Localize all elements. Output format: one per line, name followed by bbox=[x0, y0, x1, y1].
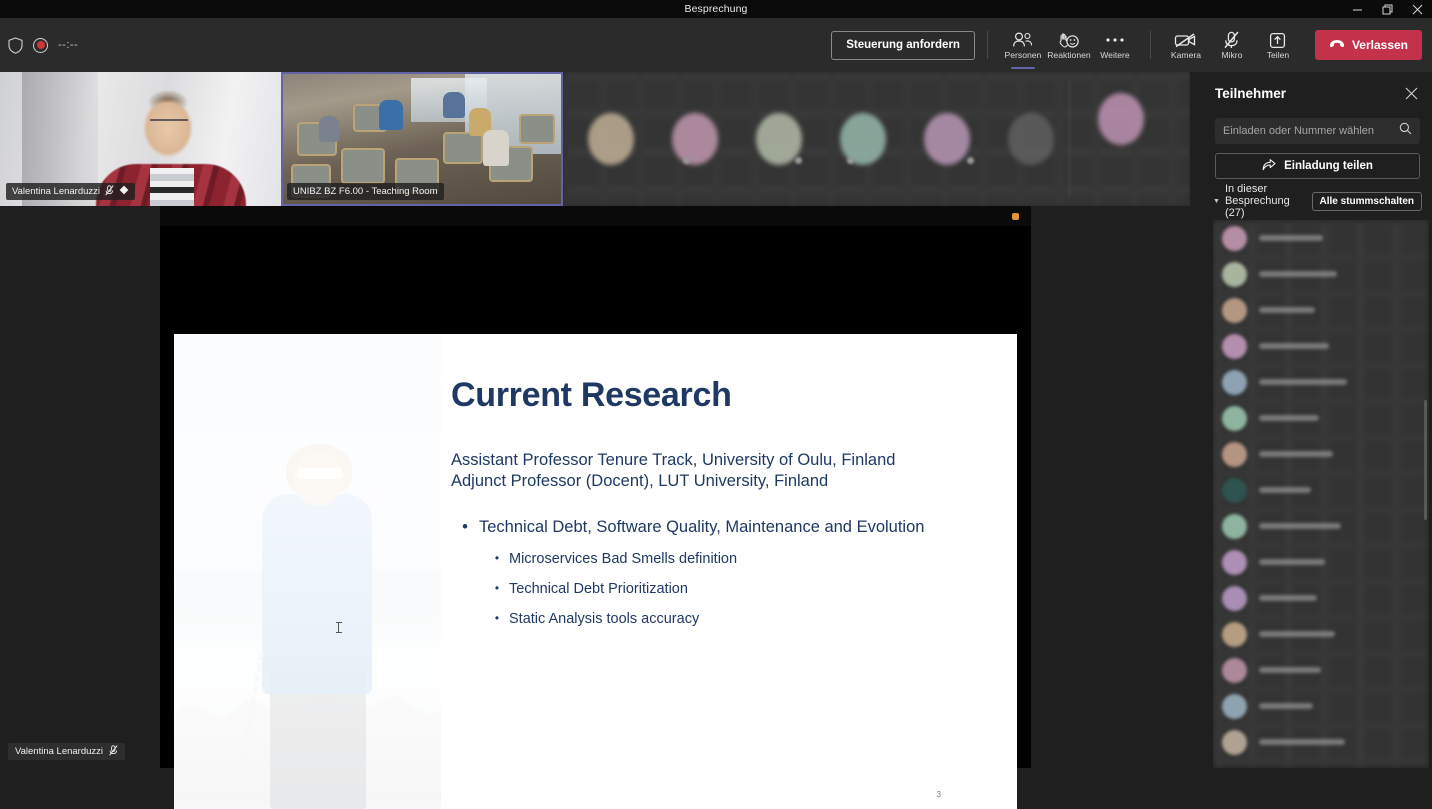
participant-name: UNIBZ BZ F6.00 - Teaching Room bbox=[293, 186, 438, 197]
presenter-name-badge: Valentina Lenarduzzi bbox=[8, 743, 125, 760]
chevron-down-icon[interactable]: ▼ bbox=[1213, 198, 1220, 205]
bullet-dot-icon: • bbox=[485, 611, 509, 627]
share-invite-button[interactable]: Einladung teilen bbox=[1215, 153, 1420, 179]
meeting-toolbar: --:-- Steuerung anfordern Personen bbox=[0, 18, 1432, 72]
participant-name: Valentina Lenarduzzi bbox=[12, 186, 100, 197]
pin-icon bbox=[119, 185, 129, 198]
participant-row[interactable] bbox=[1217, 292, 1429, 328]
participant-row[interactable] bbox=[1217, 472, 1429, 508]
video-gallery-blurred[interactable] bbox=[563, 72, 1190, 206]
slide-photo bbox=[174, 334, 441, 809]
slide-sub-bullet-text: Static Analysis tools accuracy bbox=[509, 611, 699, 627]
close-button[interactable] bbox=[1402, 0, 1432, 18]
participant-row[interactable] bbox=[1217, 220, 1429, 256]
search-input[interactable] bbox=[1223, 125, 1393, 137]
toolbar-item-label: Kamera bbox=[1171, 51, 1201, 60]
participants-list[interactable] bbox=[1213, 220, 1429, 768]
toolbar-divider-2 bbox=[1150, 31, 1151, 59]
participant-row[interactable] bbox=[1217, 364, 1429, 400]
share-invite-icon bbox=[1262, 158, 1276, 174]
presenter-name: Valentina Lenarduzzi bbox=[15, 746, 103, 757]
bullet-dot-icon: • bbox=[451, 518, 479, 537]
participant-row[interactable] bbox=[1217, 580, 1429, 616]
participant-row[interactable] bbox=[1217, 544, 1429, 580]
bullet-dot-icon: • bbox=[485, 581, 509, 597]
toolbar-item-share[interactable]: Teilen bbox=[1255, 23, 1301, 67]
meeting-stage: Valentina Lenarduzzi bbox=[0, 72, 1203, 768]
toolbar-item-more[interactable]: Weitere bbox=[1092, 23, 1138, 67]
slide-sub-bullet-text: Technical Debt Prioritization bbox=[509, 581, 688, 597]
participants-section-label: In dieser Besprechung (27) bbox=[1225, 183, 1307, 219]
slide-bullet-main-text: Technical Debt, Software Quality, Mainte… bbox=[479, 518, 924, 537]
participants-section-header[interactable]: ▼ In dieser Besprechung (27) Alle stumms… bbox=[1213, 191, 1422, 211]
gallery-avatar[interactable] bbox=[905, 72, 989, 206]
participant-row[interactable] bbox=[1217, 508, 1429, 544]
toolbar-item-label: Mikro bbox=[1221, 51, 1242, 60]
panel-header: Teilnehmer bbox=[1203, 72, 1432, 114]
slide-body: Current Research Assistant Professor Ten… bbox=[441, 334, 1017, 809]
participants-panel: Teilnehmer Einladung teilen ▼ In dieser … bbox=[1203, 72, 1432, 768]
slide-subtitle: Assistant Professor Tenure Track, Univer… bbox=[451, 450, 993, 492]
slide-subtitle-line1: Assistant Professor Tenure Track, Univer… bbox=[451, 450, 993, 471]
people-icon bbox=[1012, 30, 1033, 50]
toolbar-item-camera[interactable]: Kamera bbox=[1163, 23, 1209, 67]
shared-content-area[interactable]: Current Research Assistant Professor Ten… bbox=[160, 206, 1031, 768]
leave-button[interactable]: Verlassen bbox=[1315, 30, 1422, 60]
camera-off-icon bbox=[1174, 30, 1197, 50]
reactions-icon bbox=[1058, 30, 1079, 50]
share-invite-label: Einladung teilen bbox=[1284, 160, 1373, 172]
close-icon[interactable] bbox=[1402, 84, 1420, 102]
slide-sub-bullet: • Technical Debt Prioritization bbox=[451, 581, 993, 597]
hangup-icon bbox=[1329, 38, 1345, 52]
participant-row[interactable] bbox=[1217, 328, 1429, 364]
gallery-avatar[interactable] bbox=[1079, 72, 1163, 206]
gallery-avatar[interactable] bbox=[653, 72, 737, 206]
video-filmstrip: Valentina Lenarduzzi bbox=[0, 72, 1190, 206]
request-control-button[interactable]: Steuerung anfordern bbox=[831, 31, 975, 60]
window-titlebar: Besprechung bbox=[0, 0, 1432, 18]
gallery-avatar[interactable] bbox=[821, 72, 905, 206]
participant-row[interactable] bbox=[1217, 688, 1429, 724]
slide-sub-bullet-text: Microservices Bad Smells definition bbox=[509, 551, 737, 567]
slide-subtitle-line2: Adjunct Professor (Docent), LUT Universi… bbox=[451, 471, 993, 492]
text-cursor bbox=[338, 622, 339, 633]
video-tile-name-badge: UNIBZ BZ F6.00 - Teaching Room bbox=[287, 183, 444, 200]
participant-row[interactable] bbox=[1217, 652, 1429, 688]
toolbar-left-group: --:-- bbox=[8, 18, 78, 72]
toolbar-item-reactions[interactable]: Reaktionen bbox=[1046, 23, 1092, 67]
toolbar-right-group: Steuerung anfordern Personen bbox=[831, 18, 1422, 72]
leave-button-label: Verlassen bbox=[1352, 38, 1408, 52]
video-tile-teaching-room[interactable]: UNIBZ BZ F6.00 - Teaching Room bbox=[281, 72, 563, 206]
restore-button[interactable] bbox=[1372, 0, 1402, 18]
minimize-button[interactable] bbox=[1342, 0, 1372, 18]
toolbar-divider-1 bbox=[987, 31, 988, 59]
share-indicator-bar bbox=[160, 206, 1031, 226]
participant-row[interactable] bbox=[1217, 616, 1429, 652]
participant-row[interactable] bbox=[1217, 400, 1429, 436]
window-title: Besprechung bbox=[685, 3, 748, 15]
bullet-dot-icon: • bbox=[485, 551, 509, 567]
participant-row[interactable] bbox=[1217, 256, 1429, 292]
toolbar-item-label: Reaktionen bbox=[1047, 51, 1090, 60]
shield-icon[interactable] bbox=[8, 37, 23, 54]
slide-bullet-list: • Technical Debt, Software Quality, Main… bbox=[451, 518, 993, 627]
meeting-timer: --:-- bbox=[58, 39, 78, 51]
toolbar-item-label: Weitere bbox=[1100, 51, 1129, 60]
slide-page-number: 3 bbox=[937, 790, 941, 799]
participants-scrollbar[interactable] bbox=[1424, 400, 1427, 520]
video-tile-name-badge: Valentina Lenarduzzi bbox=[6, 183, 135, 200]
search-icon[interactable] bbox=[1399, 122, 1412, 140]
mute-all-button[interactable]: Alle stummschalten bbox=[1312, 192, 1422, 211]
toolbar-item-people[interactable]: Personen bbox=[1000, 23, 1046, 67]
muted-mic-icon bbox=[109, 745, 118, 759]
slide-sub-bullet: • Static Analysis tools accuracy bbox=[451, 611, 993, 627]
share-up-arrow-icon bbox=[1269, 30, 1286, 50]
mic-off-icon bbox=[1223, 30, 1240, 50]
toolbar-item-label: Personen bbox=[1005, 51, 1042, 60]
window-controls bbox=[1342, 0, 1432, 18]
gallery-avatar[interactable] bbox=[737, 72, 821, 206]
orange-dot-indicator bbox=[1012, 213, 1019, 220]
slide-bullet-main: • Technical Debt, Software Quality, Main… bbox=[451, 518, 993, 537]
toolbar-item-label: Teilen bbox=[1267, 51, 1289, 60]
participant-row[interactable] bbox=[1217, 436, 1429, 472]
invite-search-box[interactable] bbox=[1215, 118, 1420, 144]
presentation-slide: Current Research Assistant Professor Ten… bbox=[174, 334, 1017, 809]
gallery-avatar[interactable] bbox=[989, 72, 1073, 206]
video-tile-valentina[interactable]: Valentina Lenarduzzi bbox=[0, 72, 281, 206]
more-ellipsis-icon bbox=[1105, 30, 1125, 50]
panel-title: Teilnehmer bbox=[1215, 86, 1402, 101]
participant-row[interactable] bbox=[1217, 724, 1429, 760]
record-icon[interactable] bbox=[33, 38, 48, 53]
gallery-avatar[interactable] bbox=[569, 72, 653, 206]
slide-sub-bullet: • Microservices Bad Smells definition bbox=[451, 551, 993, 567]
slide-title: Current Research bbox=[451, 378, 993, 412]
muted-mic-icon bbox=[105, 185, 114, 199]
toolbar-item-mic[interactable]: Mikro bbox=[1209, 23, 1255, 67]
